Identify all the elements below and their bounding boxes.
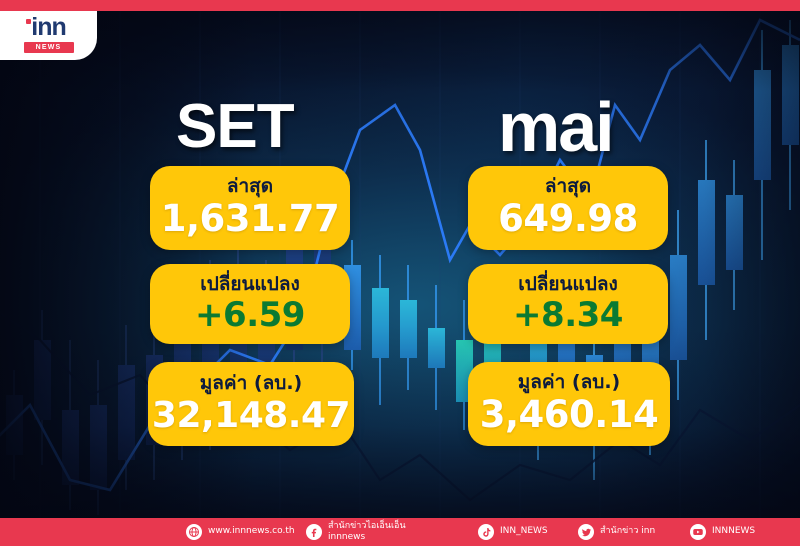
set-turnover-label: มูลค่า (ลบ.) xyxy=(200,374,302,394)
set-last-pill: ล่าสุด 1,631.77 xyxy=(150,166,350,250)
set-change-value: +6.59 xyxy=(195,298,305,334)
mai-change-label: เปลี่ยนแปลง xyxy=(518,275,618,295)
footer-youtube-text: INNNEWS xyxy=(712,526,755,537)
footer-twitter-text: สำนักข่าว inn xyxy=(600,526,655,537)
footer-facebook-text: สำนักข่าวไอเอ็นเอ็น innnews xyxy=(328,521,406,544)
footer-youtube[interactable]: INNNEWS xyxy=(690,524,755,540)
youtube-icon xyxy=(690,524,706,540)
logo-wordmark: inn xyxy=(18,18,80,40)
set-change-pill: เปลี่ยนแปลง +6.59 xyxy=(150,264,350,344)
mai-turnover-pill: มูลค่า (ลบ.) 3,460.14 xyxy=(468,362,670,446)
top-accent-bar xyxy=(0,0,800,11)
mai-last-value: 649.98 xyxy=(498,200,638,239)
footer-facebook[interactable]: สำนักข่าวไอเอ็นเอ็น innnews xyxy=(306,521,406,544)
logo-news-badge: NEWS xyxy=(24,42,74,53)
inn-news-logo[interactable]: inn NEWS xyxy=(0,11,97,60)
set-change-label: เปลี่ยนแปลง xyxy=(200,275,300,295)
social-footer-bar: www.innnews.co.th สำนักข่าวไอเอ็นเอ็น in… xyxy=(0,518,800,546)
set-turnover-value: 32,148.47 xyxy=(152,397,350,435)
mai-turnover-value: 3,460.14 xyxy=(480,396,659,435)
footer-facebook-line2: innnews xyxy=(328,532,406,543)
mai-last-label: ล่าสุด xyxy=(545,177,591,197)
index-title-mai: mai xyxy=(498,92,613,162)
footer-website-text: www.innnews.co.th xyxy=(208,526,295,537)
set-last-label: ล่าสุด xyxy=(227,177,273,197)
footer-tiktok-text: INN_NEWS xyxy=(500,526,548,537)
facebook-icon xyxy=(306,524,322,540)
set-last-value: 1,631.77 xyxy=(161,200,340,239)
twitter-icon xyxy=(578,524,594,540)
infographic-stage: inn NEWS SET mai ล่าสุด 1,631.77 เปลี่ยน… xyxy=(0,0,800,546)
mai-turnover-label: มูลค่า (ลบ.) xyxy=(518,373,620,393)
mai-change-pill: เปลี่ยนแปลง +8.34 xyxy=(468,264,668,344)
mai-change-value: +8.34 xyxy=(513,298,623,334)
set-turnover-pill: มูลค่า (ลบ.) 32,148.47 xyxy=(148,362,354,446)
background-stock-chart xyxy=(0,10,800,518)
footer-facebook-line1: สำนักข่าวไอเอ็นเอ็น xyxy=(328,521,406,531)
footer-twitter[interactable]: สำนักข่าว inn xyxy=(578,524,655,540)
index-title-set: SET xyxy=(176,96,294,158)
footer-website[interactable]: www.innnews.co.th xyxy=(186,524,295,540)
globe-icon xyxy=(186,524,202,540)
footer-tiktok[interactable]: INN_NEWS xyxy=(478,524,548,540)
tiktok-icon xyxy=(478,524,494,540)
mai-last-pill: ล่าสุด 649.98 xyxy=(468,166,668,250)
